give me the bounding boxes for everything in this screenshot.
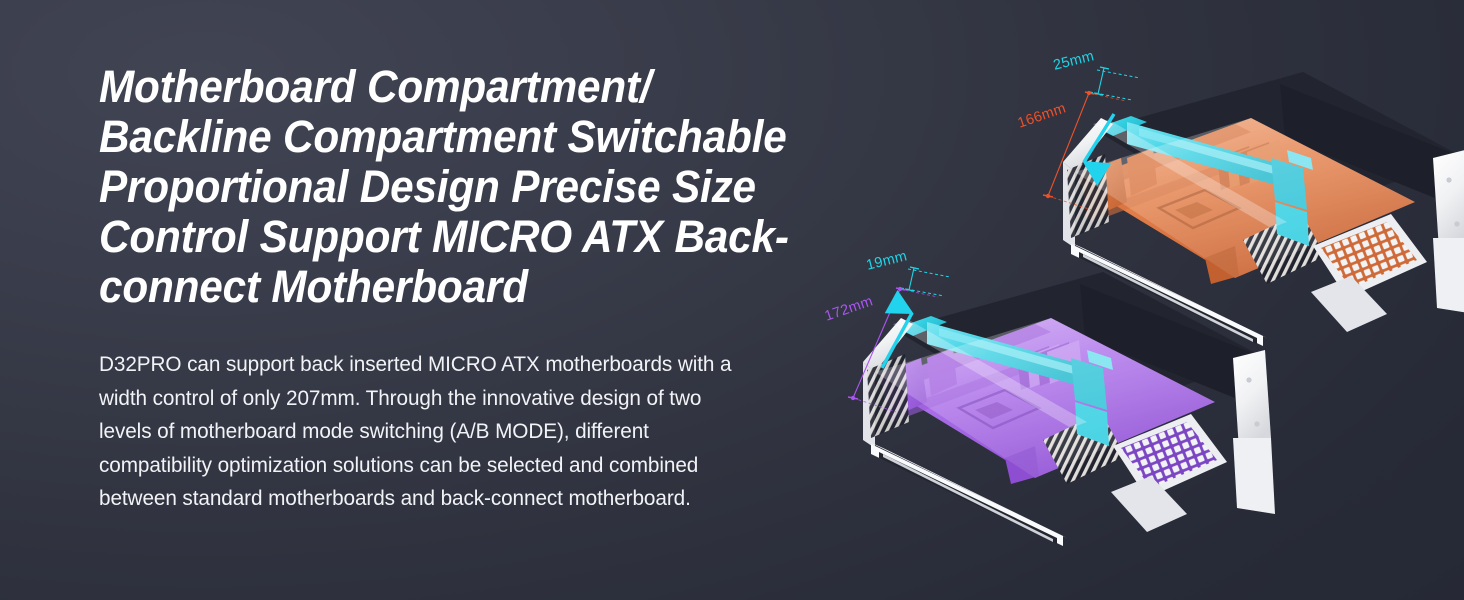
screw-head: [1454, 221, 1459, 226]
product-feature-banner: Motherboard Compartment/ Backline Compar…: [0, 0, 1464, 600]
chassis-right-lower: [1433, 238, 1464, 314]
case-render-lower: [835, 262, 1305, 562]
case-illustration-purple: [835, 262, 1305, 562]
screw-head: [1254, 421, 1259, 426]
chassis-right-post: [1233, 350, 1271, 450]
product-render-area: [790, 0, 1464, 600]
screw-head: [1446, 177, 1451, 182]
page-title: Motherboard Compartment/ Backline Compar…: [99, 62, 813, 312]
chassis-right-post: [1433, 150, 1464, 250]
screw-head: [1246, 377, 1251, 382]
chassis-right-lower: [1233, 438, 1275, 514]
body-description: D32PRO can support back inserted MICRO A…: [99, 348, 744, 516]
text-column: Motherboard Compartment/ Backline Compar…: [99, 62, 859, 312]
